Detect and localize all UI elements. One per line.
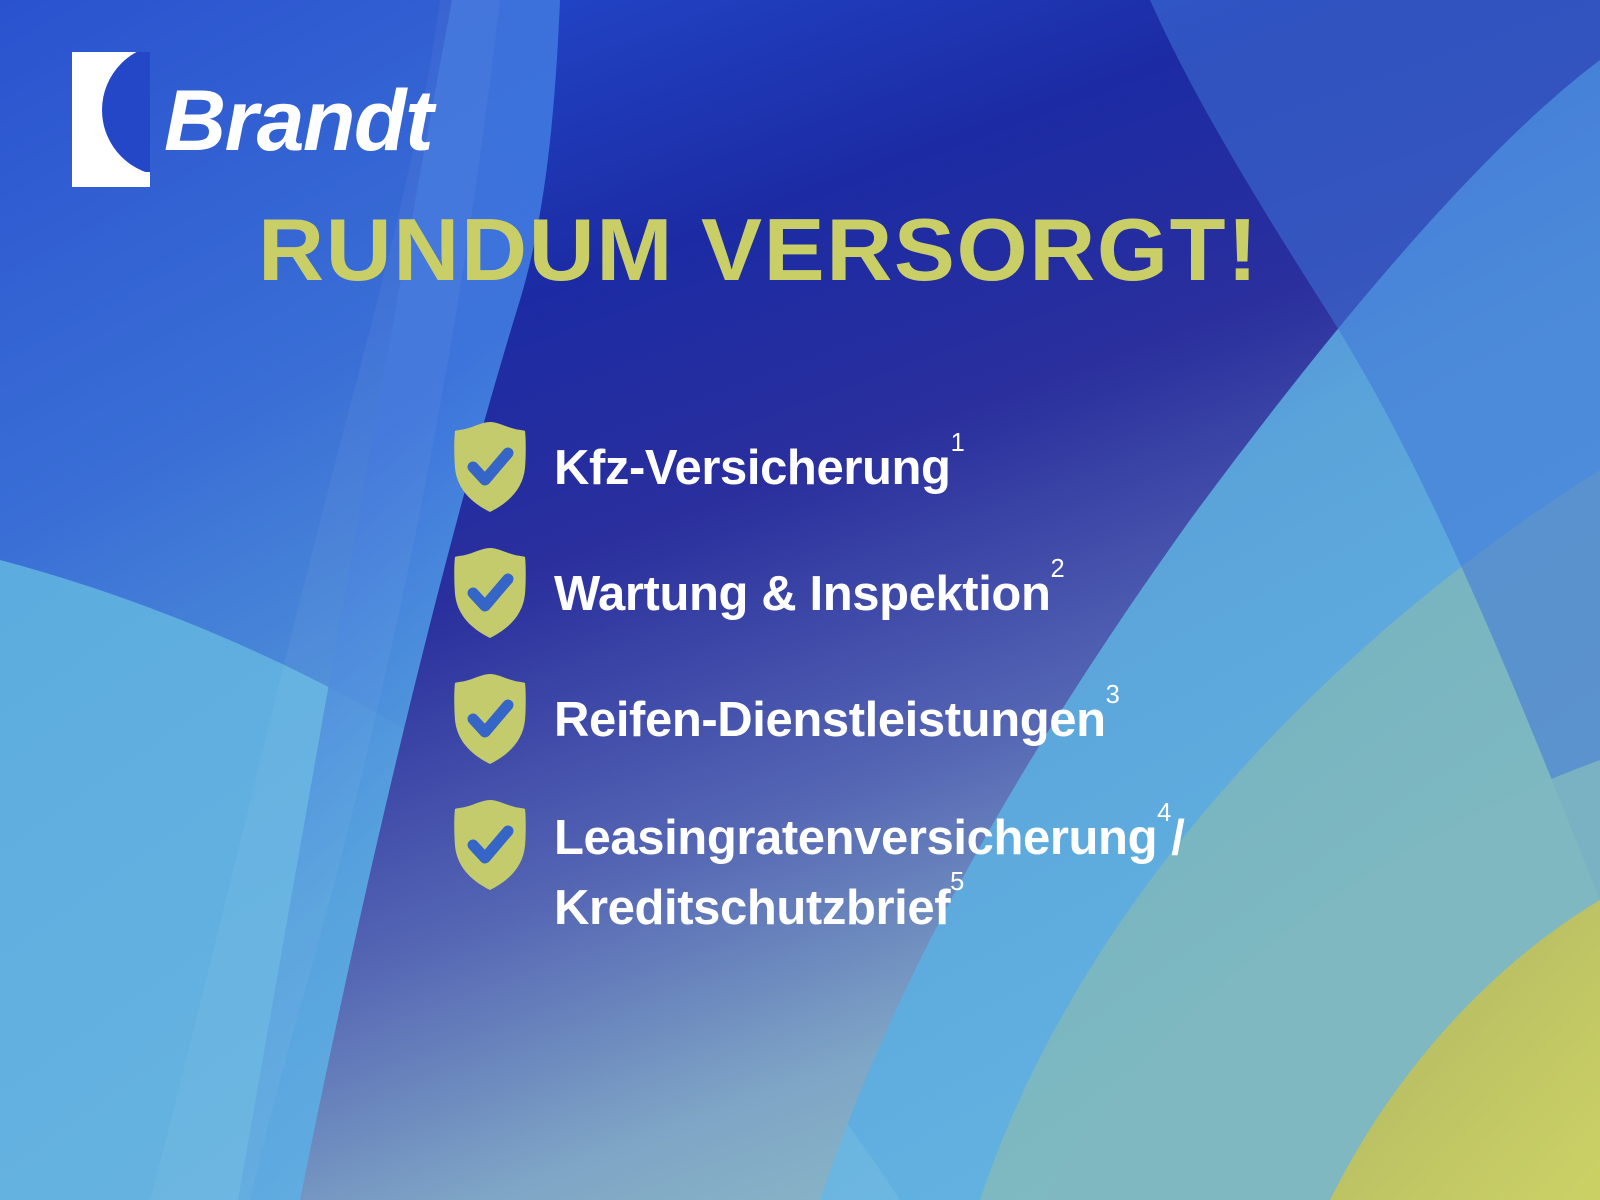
benefit-label-text: Kfz-Versicherung bbox=[554, 441, 951, 495]
benefit-label: Kfz-Versicherung1 bbox=[528, 418, 965, 504]
benefit-footnote-marker: 1 bbox=[951, 429, 965, 457]
list-item: Reifen-Dienstleistungen3 bbox=[452, 670, 1512, 774]
benefit-footnote-marker: 2 bbox=[1051, 555, 1065, 583]
page-title: RUNDUM VERSORGT! bbox=[258, 204, 1259, 296]
shield-check-icon bbox=[452, 798, 528, 892]
benefit-footnote-marker: 3 bbox=[1106, 681, 1120, 709]
benefit-label: Wartung & Inspektion2 bbox=[528, 544, 1065, 630]
benefit-label-text: Leasingratenversicherung bbox=[554, 811, 1157, 865]
list-item: Leasingratenversicherung4/ Kreditschutzb… bbox=[452, 796, 1512, 943]
benefit-label-text-second: Kreditschutzbrief bbox=[554, 881, 950, 935]
benefits-list: Kfz-Versicherung1 Wartung & Inspektion2 … bbox=[452, 418, 1512, 943]
shield-check-icon bbox=[452, 420, 528, 514]
benefit-label: Leasingratenversicherung4/ Kreditschutzb… bbox=[528, 796, 1185, 943]
brand-wordmark: Brandt bbox=[164, 83, 432, 160]
benefit-footnote-marker-second: 5 bbox=[950, 868, 964, 896]
benefit-label: Reifen-Dienstleistungen3 bbox=[528, 670, 1120, 756]
list-item: Kfz-Versicherung1 bbox=[452, 418, 1512, 522]
shield-check-icon bbox=[452, 672, 528, 766]
benefit-footnote-marker: 4 bbox=[1157, 799, 1171, 827]
shield-check-icon bbox=[452, 546, 528, 640]
brand-logo: Brandt bbox=[72, 52, 432, 187]
list-item: Wartung & Inspektion2 bbox=[452, 544, 1512, 648]
brandt-crescent-mark-icon bbox=[72, 52, 150, 187]
benefit-separator: / bbox=[1171, 811, 1184, 865]
promo-slide: Brandt RUNDUM VERSORGT! Kfz-Versicherung… bbox=[0, 0, 1600, 1200]
benefit-label-text: Wartung & Inspektion bbox=[554, 567, 1051, 621]
benefit-label-text: Reifen-Dienstleistungen bbox=[554, 693, 1106, 747]
